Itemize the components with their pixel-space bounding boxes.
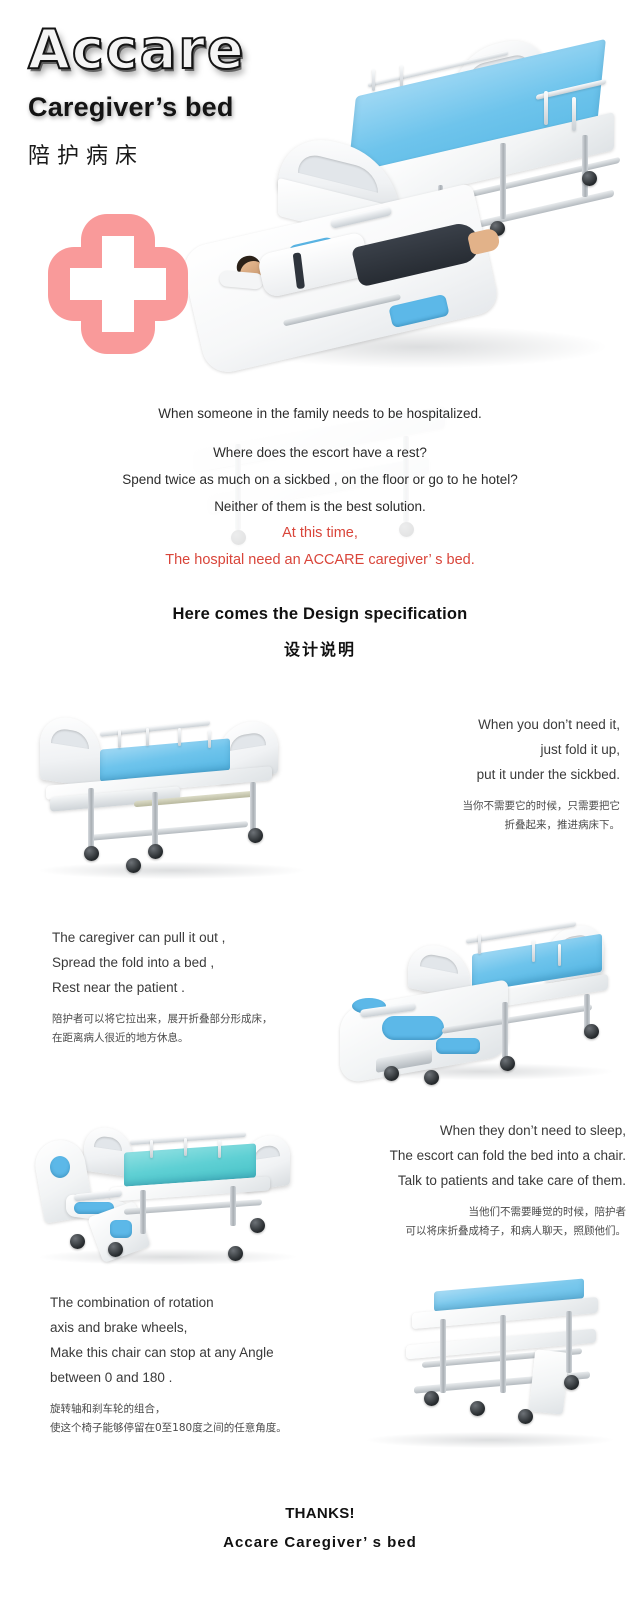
f2-rail-vert-c xyxy=(558,944,561,966)
f1-en-2: just fold it up, xyxy=(330,737,620,762)
intro-line-1: When someone in the family needs to be h… xyxy=(0,400,640,427)
f3-chair-back-pad xyxy=(50,1156,70,1178)
hero-leg-a xyxy=(500,143,506,219)
f2-rail-vert-a xyxy=(478,934,481,954)
product-detail-page: Accare Caregiver’s bed 陪护病床 When someone… xyxy=(0,0,640,1600)
f4-wheel-b xyxy=(470,1401,485,1416)
f3-leg-b xyxy=(230,1186,236,1226)
f4-cn-2: 使这个椅子能够停留在0至180度之间的任意角度。 xyxy=(50,1419,370,1438)
intro-line-4: Neither of them is the best solution. xyxy=(0,493,640,520)
intro-red-line-1: At this time, xyxy=(0,520,640,547)
f3-leg-a xyxy=(140,1190,146,1234)
hero-leg-b xyxy=(582,135,588,197)
f4-wheel-c xyxy=(518,1409,533,1424)
f1-headboard-left xyxy=(40,713,100,789)
f3-wheel-b xyxy=(228,1246,243,1261)
f1-wheel-b xyxy=(126,858,141,873)
hero-siderail-vertical-d xyxy=(572,97,576,131)
cross-inner-horizontal xyxy=(70,268,166,300)
f1-en-3: put it under the sickbed. xyxy=(330,762,620,787)
f4-en-1: The combination of rotation xyxy=(50,1290,370,1315)
spec-heading-cn: 设计说明 xyxy=(0,636,640,660)
f3-en-3: Talk to patients and take care of them. xyxy=(290,1168,626,1193)
page-header: Accare Caregiver’s bed 陪护病床 xyxy=(0,0,640,400)
f3-rail-top xyxy=(130,1132,246,1145)
f4-en-2: axis and brake wheels, xyxy=(50,1315,370,1340)
f2-wheel-c xyxy=(384,1066,399,1081)
f1-wheel-d xyxy=(248,828,263,843)
f2-pad-foot xyxy=(436,1038,480,1054)
f1-rail-vert-a xyxy=(118,730,121,748)
f4-cn-1: 旋转轴和刹车轮的组合， xyxy=(50,1400,370,1419)
f2-cn-1: 陪护者可以将它拉出来，展开折叠部分形成床， xyxy=(52,1010,352,1029)
hero-siderail-vertical-c xyxy=(544,91,548,125)
intro-text-block: When someone in the family needs to be h… xyxy=(0,400,640,574)
f2-wheel-d xyxy=(424,1070,439,1085)
feature-3-image xyxy=(22,1092,314,1272)
f1-en-1: When you don’t need it, xyxy=(330,712,620,737)
f2-en-1: The caregiver can pull it out , xyxy=(52,925,352,950)
f1-rail-vert-c xyxy=(178,728,181,746)
f1-headboard-slot-2 xyxy=(230,731,266,751)
person-arm-left xyxy=(219,270,264,290)
f2-pad-main xyxy=(382,1016,444,1040)
brand-title: Accare xyxy=(28,18,246,81)
intro-red-line-2: The hospital need an ACCARE caregiver’ s… xyxy=(0,547,640,574)
f3-chair-foot-pad xyxy=(110,1220,132,1238)
f2-en-2: Spread the fold into a bed , xyxy=(52,950,352,975)
medical-cross-logo xyxy=(48,214,188,354)
hero-wheel-a xyxy=(582,171,597,186)
f1-leg-a xyxy=(88,788,94,848)
feature-1-image xyxy=(22,692,322,887)
f2-cn-2: 在距离病人很近的地方休息。 xyxy=(52,1029,352,1048)
intro-line-3: Spend twice as much on a sickbed , on th… xyxy=(0,466,640,493)
f3-cn-1: 当他们不需要睡觉的时候，陪护者 xyxy=(290,1203,626,1222)
feature-3-text: When they don’t need to sleep, The escor… xyxy=(290,1118,626,1241)
feature-4-shadow xyxy=(367,1432,613,1448)
f1-rail-vert-d xyxy=(208,730,211,748)
f2-leg-a xyxy=(502,1002,508,1058)
feature-4-image xyxy=(350,1275,630,1455)
f1-headboard-slot xyxy=(51,727,89,749)
design-specification-heading: Here comes the Design specification 设计说明 xyxy=(0,605,640,660)
f3-rail-vert-b xyxy=(184,1138,187,1156)
f3-headboard-slot-2 xyxy=(254,1144,280,1160)
feature-4-text: The combination of rotation axis and bra… xyxy=(50,1290,370,1438)
f3-en-2: The escort can fold the bed into a chair… xyxy=(290,1143,626,1168)
f3-wheel-d xyxy=(108,1242,123,1257)
hero-bed-illustration xyxy=(200,25,640,375)
f2-wheel-b xyxy=(500,1056,515,1071)
f1-cn-2: 折叠起来，推进病床下。 xyxy=(330,816,620,835)
f2-rail-vert-b xyxy=(532,940,535,962)
hero-siderail-vertical-b xyxy=(400,65,403,87)
f1-cn-1: 当你不需要它的时候，只需要把它 xyxy=(330,797,620,816)
feature-1-text: When you don’t need it, just fold it up,… xyxy=(330,712,620,835)
feature-3-shadow xyxy=(40,1249,297,1265)
f2-wheel-a xyxy=(584,1024,599,1039)
f3-wheel-c xyxy=(70,1234,85,1249)
f1-wheel-a xyxy=(84,846,99,861)
feature-2-image xyxy=(332,898,630,1088)
feature-2-text: The caregiver can pull it out , Spread t… xyxy=(52,925,352,1048)
f4-wheel-d xyxy=(564,1375,579,1390)
f1-leg-c xyxy=(250,782,256,832)
f3-headboard-slot xyxy=(94,1135,122,1151)
f4-leg-a xyxy=(440,1319,446,1393)
f1-leg-b xyxy=(152,792,158,846)
f3-rail-vert-c xyxy=(218,1140,221,1158)
f3-cn-2: 可以将床折叠成椅子，和病人聊天，照顾他们。 xyxy=(290,1222,626,1241)
f4-leg-c xyxy=(566,1311,572,1373)
spec-heading-en: Here comes the Design specification xyxy=(0,605,640,624)
f3-en-1: When they don’t need to sleep, xyxy=(290,1118,626,1143)
f4-leg-b xyxy=(500,1315,506,1393)
f3-wheel-a xyxy=(250,1218,265,1233)
brand-subtitle: Caregiver’s bed xyxy=(28,92,234,123)
person-legs xyxy=(351,220,483,287)
feature-1-shadow xyxy=(40,862,304,880)
f1-lower-rail xyxy=(88,821,248,841)
f1-rail-top xyxy=(100,720,210,737)
f2-headboard-slot-mid xyxy=(420,952,458,973)
f2-en-3: Rest near the patient . xyxy=(52,975,352,1000)
hero-siderail-vertical-a xyxy=(372,69,375,91)
f4-wheel-a xyxy=(424,1391,439,1406)
f1-rail-vert-b xyxy=(146,728,149,746)
f4-en-3: Make this chair can stop at any Angle xyxy=(50,1340,370,1365)
page-footer: THANKS! Accare Caregiver’ s bed xyxy=(0,1505,640,1551)
footer-brand-line: Accare Caregiver’ s bed xyxy=(0,1534,640,1551)
f3-rail-vert-a xyxy=(150,1140,153,1158)
f1-wheel-c xyxy=(148,844,163,859)
f4-en-4: between 0 and 180 . xyxy=(50,1365,370,1390)
thanks-text: THANKS! xyxy=(0,1505,640,1522)
intro-line-2: Where does the escort have a rest? xyxy=(0,439,640,466)
brand-chinese-title: 陪护病床 xyxy=(28,138,144,170)
